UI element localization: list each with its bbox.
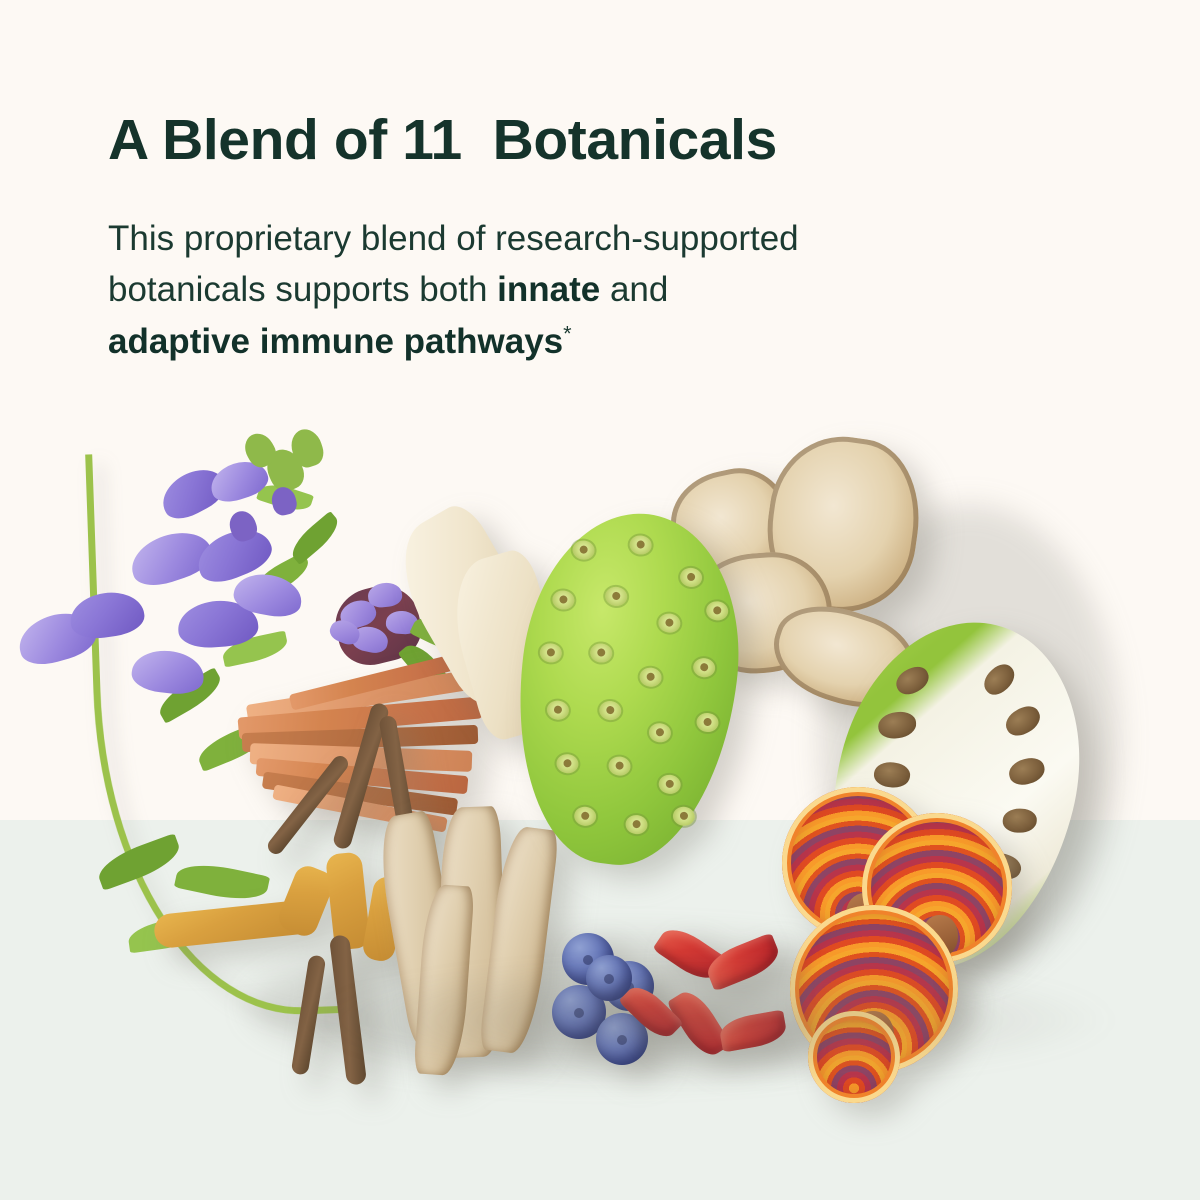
noni-eye (572, 539, 596, 561)
emphasis-innate: innate (497, 270, 600, 309)
noni-eye (657, 612, 681, 634)
surface-contact-shadow (300, 960, 1120, 1080)
noni-eye (546, 699, 570, 721)
noni-eye (639, 666, 663, 688)
noni-eye (551, 589, 575, 611)
noni-seed (877, 710, 918, 740)
noni-seed (1001, 701, 1045, 740)
text-block: A Blend of 11 Botanicals This proprietar… (108, 112, 1068, 367)
description-line-2-prefix: botanicals supports both (108, 270, 497, 309)
description-line-1: This proprietary blend of research-suppo… (108, 219, 799, 258)
noni-eye (705, 600, 729, 622)
noni-eye (624, 814, 648, 836)
noni-eye (573, 806, 597, 828)
noni-eye (679, 567, 703, 589)
noni-seed (892, 662, 933, 698)
footnote-asterisk: * (563, 320, 571, 345)
page-title: A Blend of 11 Botanicals (108, 112, 1068, 169)
noni-seed (1006, 755, 1047, 788)
noni-eye (695, 712, 719, 734)
noni-seed (872, 760, 911, 790)
noni-eye (658, 774, 682, 796)
botanical-blend-panel: A Blend of 11 Botanicals This proprietar… (0, 0, 1200, 1200)
noni-eye (607, 755, 631, 777)
description-line-2-suffix: and (600, 270, 668, 309)
noni-eye (598, 700, 622, 722)
noni-eye (629, 534, 653, 556)
noni-eye (555, 753, 579, 775)
noni-eye (648, 722, 672, 744)
description-paragraph: This proprietary blend of research-suppo… (108, 213, 1008, 367)
noni-eye (539, 642, 563, 664)
noni-seed (979, 659, 1020, 700)
noni-eye (604, 586, 628, 608)
noni-seed (1002, 808, 1037, 833)
noni-eye (692, 657, 716, 679)
noni-eye (589, 642, 613, 664)
emphasis-adaptive-immune-pathways: adaptive immune pathways (108, 322, 563, 361)
botanical-arrangement-image (0, 415, 1200, 1200)
noni-eye (672, 806, 696, 828)
